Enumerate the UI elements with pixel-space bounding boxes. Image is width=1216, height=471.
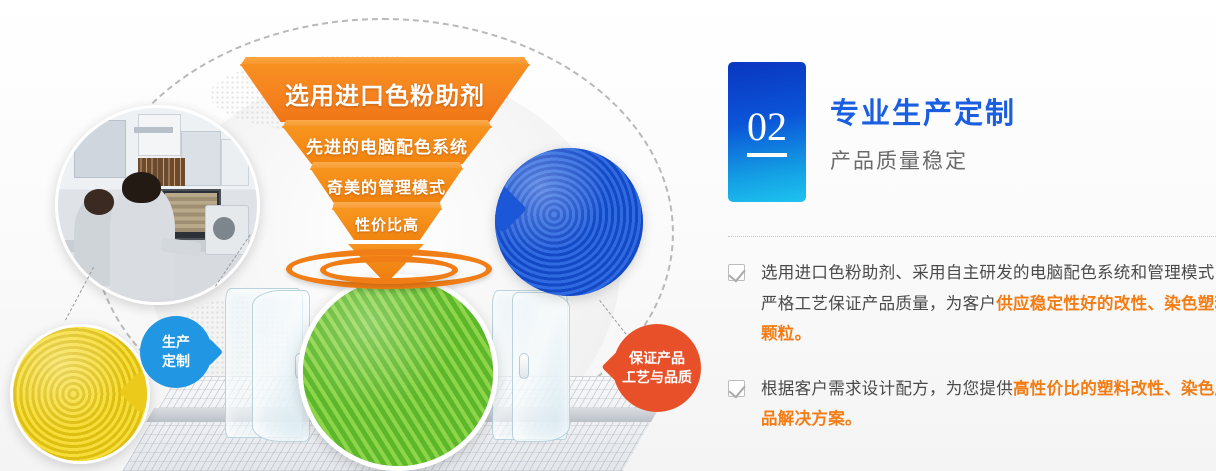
callout-right-line2: 工艺与品质 (622, 368, 692, 387)
list-item: 根据客户需求设计配方，为您提供高性价比的塑料改性、染色产品解决方案。 (728, 374, 1216, 435)
text-line: 严格工艺保证产品质量，为客户供应稳定性好的改性、染色塑料 (761, 289, 1216, 320)
funnel-layer-1: 选用进口色粉助剂 (240, 64, 530, 122)
section-content: 02 专业生产定制 产品质量稳定 选用进口色粉助剂、采用自主研发的电脑配色系统和… (710, 0, 1216, 471)
section-header: 02 专业生产定制 产品质量稳定 (728, 62, 1016, 202)
product-illustration: 选用进口色粉助剂 先进的电脑配色系统 奇美的管理模式 性价比高 生产 定制 保证… (0, 0, 710, 471)
highlighted-text: 颗粒。 (761, 325, 811, 343)
page-title: 专业生产定制 (830, 98, 1016, 131)
callout-production-custom[interactable]: 生产 定制 (140, 316, 212, 388)
funnel-layer-2: 先进的电脑配色系统 (282, 126, 492, 164)
body-text: 严格工艺保证产品质量，为客户 (761, 295, 996, 313)
checkbox-check-icon (728, 264, 745, 281)
list-item-text: 选用进口色粉助剂、采用自主研发的电脑配色系统和管理模式，严格工艺保证产品质量，为… (761, 258, 1216, 350)
list-item-text: 根据客户需求设计配方，为您提供高性价比的塑料改性、染色产品解决方案。 (761, 374, 1216, 435)
page-subtitle: 产品质量稳定 (830, 145, 1016, 175)
body-text: 根据客户需求设计配方，为您提供 (761, 380, 1013, 398)
callout-right-line1: 保证产品 (629, 349, 685, 368)
text-line: 选用进口色粉助剂、采用自主研发的电脑配色系统和管理模式， (761, 258, 1216, 289)
feature-bullet-list: 选用进口色粉助剂、采用自主研发的电脑配色系统和管理模式，严格工艺保证产品质量，为… (728, 258, 1216, 459)
section-number-badge: 02 (728, 62, 806, 202)
checkbox-check-icon (728, 380, 745, 397)
list-item: 选用进口色粉助剂、采用自主研发的电脑配色系统和管理模式，严格工艺保证产品质量，为… (728, 258, 1216, 350)
section-titles: 专业生产定制 产品质量稳定 (830, 62, 1016, 175)
funnel-diagram: 选用进口色粉助剂 先进的电脑配色系统 奇美的管理模式 性价比高 (0, 0, 710, 471)
highlighted-text: 高性价比的塑料改性、染色产 (1013, 380, 1216, 398)
body-text: 选用进口色粉助剂、采用自主研发的电脑配色系统和管理模式， (761, 264, 1216, 282)
promo-banner: 选用进口色粉助剂 先进的电脑配色系统 奇美的管理模式 性价比高 生产 定制 保证… (0, 0, 1216, 471)
text-line: 颗粒。 (761, 319, 1216, 350)
section-number: 02 (747, 107, 787, 157)
funnel-layer-4: 性价比高 (332, 208, 442, 240)
funnel-layer-3: 奇美的管理模式 (310, 168, 463, 204)
text-line: 根据客户需求设计配方，为您提供高性价比的塑料改性、染色产 (761, 374, 1216, 405)
funnel-ring-inner (320, 256, 458, 284)
text-line: 品解决方案。 (761, 404, 1216, 435)
callout-left-line2: 定制 (162, 352, 190, 371)
callout-quality-guarantee[interactable]: 保证产品 工艺与品质 (613, 324, 701, 412)
highlighted-text: 品解决方案。 (761, 410, 862, 428)
highlighted-text: 供应稳定性好的改性、染色塑料 (996, 295, 1216, 313)
dotted-divider (728, 236, 1216, 237)
callout-left-line1: 生产 (162, 333, 190, 352)
